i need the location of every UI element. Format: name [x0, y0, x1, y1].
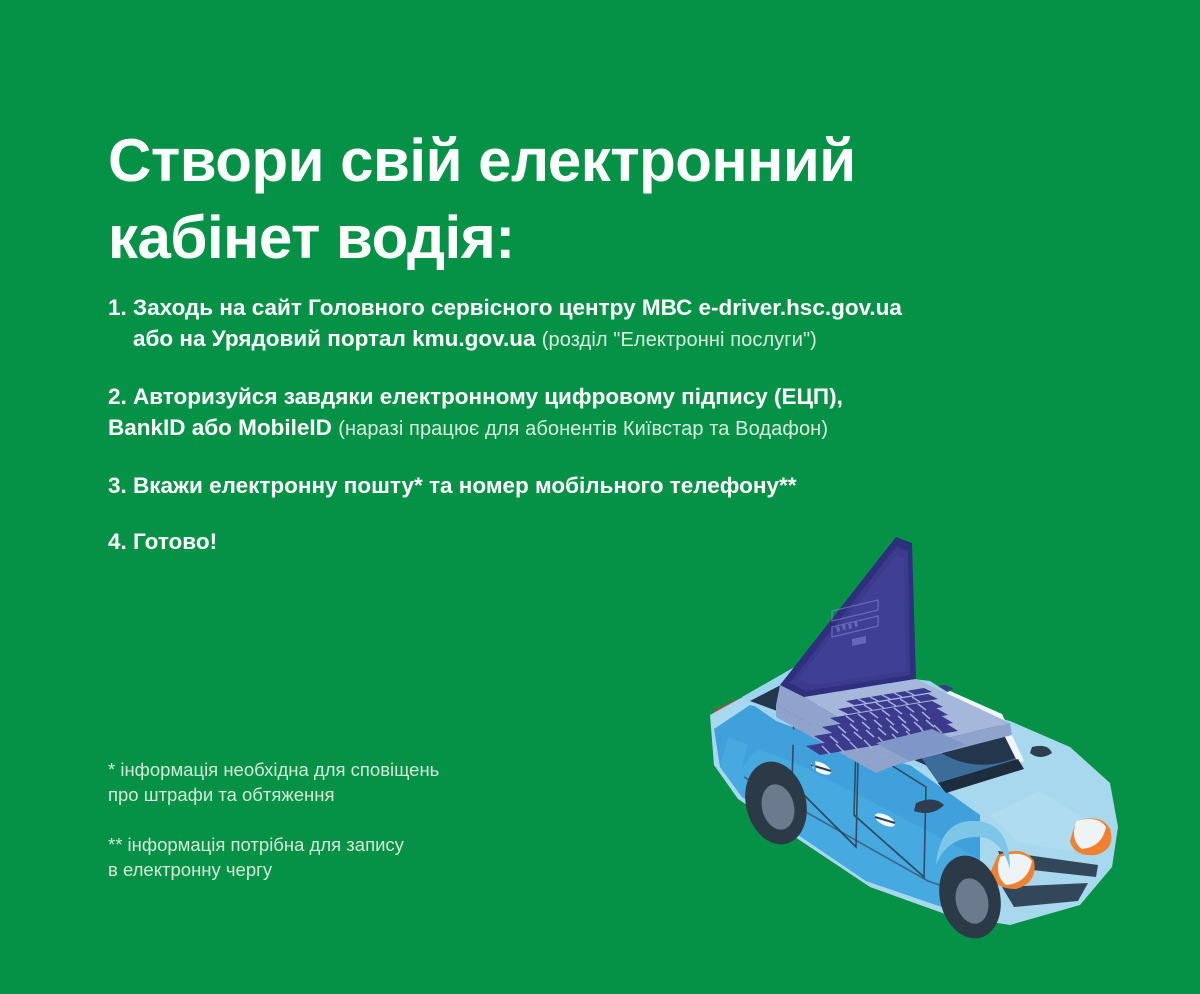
- step-1-line-2: або на Урядовий портал kmu.gov.ua (розді…: [108, 323, 1118, 356]
- page-title-line-2: кабінет водія:: [108, 199, 1108, 276]
- step-1-line-2-bold: або на Урядовий портал kmu.gov.ua: [133, 326, 535, 351]
- step-1-note: (розділ "Електронні послуги"): [542, 329, 817, 351]
- footnote-double-asterisk: ** інформація потрібна для запису в елек…: [108, 832, 578, 882]
- step-item-1: 1. Заходь на сайт Головного сервісного ц…: [108, 292, 1118, 356]
- step-item-2: 2. Авторизуйся завдяки електронному цифр…: [108, 381, 1118, 445]
- page-title-line-1: Створи свій електронний: [108, 122, 1108, 199]
- step-1-line-1: 1. Заходь на сайт Головного сервісного ц…: [108, 292, 1118, 323]
- footnote-single-asterisk: * інформація необхідна для сповіщень про…: [108, 757, 578, 807]
- step-item-3: 3. Вкажи електронну пошту* та номер мобі…: [108, 470, 1118, 501]
- step-2-line-2-bold: BankID або MobileID: [108, 415, 332, 440]
- footnote-2-line-1: ** інформація потрібна для запису: [108, 832, 578, 857]
- footnote-2-line-2: в електронну чергу: [108, 857, 578, 882]
- car-with-laptop-illustration: [680, 515, 1160, 945]
- step-2-line-2: BankID або MobileID (наразі працює для а…: [108, 412, 1118, 445]
- page-title: Створи свій електронний кабінет водія:: [108, 122, 1108, 276]
- footnotes: * інформація необхідна для сповіщень про…: [108, 738, 578, 882]
- step-3-line-1: 3. Вкажи електронну пошту* та номер мобі…: [108, 470, 1118, 501]
- step-2-line-1: 2. Авторизуйся завдяки електронному цифр…: [108, 381, 1118, 412]
- poster: Створи свій електронний кабінет водія: 1…: [0, 0, 1200, 994]
- step-2-note: (наразі працює для абонентів Київстар та…: [338, 418, 828, 440]
- footnote-1-line-2: про штрафи та обтяження: [108, 782, 578, 807]
- footnote-1-line-1: * інформація необхідна для сповіщень: [108, 757, 578, 782]
